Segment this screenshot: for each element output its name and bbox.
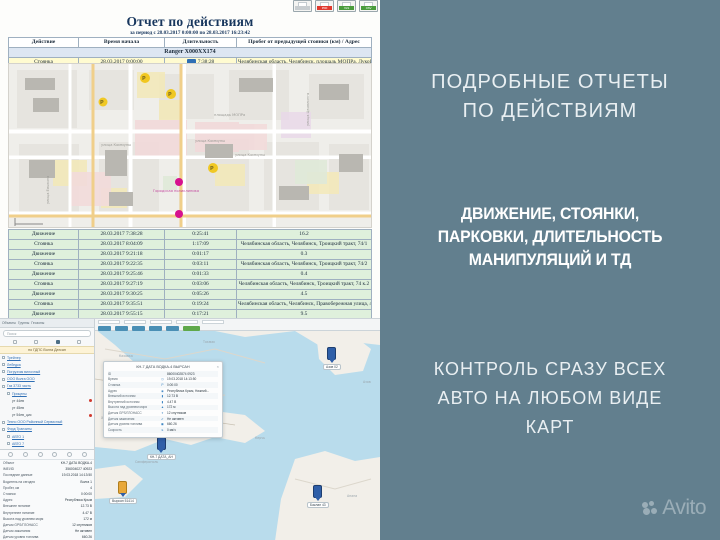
cell-start-time: 28.03.2017 9:35:51 (79, 300, 165, 310)
table-row: Стоянка 28.03.2017 9:27:19 0:03:06 Челяб… (9, 280, 372, 290)
popup-key: Стоянка (108, 383, 158, 387)
property-key: Объект (3, 461, 47, 465)
cell-start-time: 28.03.2017 7:38:28 (79, 230, 165, 240)
popup-key: Адрес (108, 389, 158, 393)
stops-button[interactable] (115, 326, 128, 331)
map-marker[interactable]: Азов 02 (323, 347, 341, 370)
cell-info: Челябинская область, Челябинск, Троицкий… (237, 240, 372, 250)
map-marker[interactable]: Баклан 43 (307, 485, 329, 508)
popup-key: Высота над уровнем моря (108, 405, 158, 409)
list-item-label[interactable]: ут 54ев_цис (12, 413, 32, 417)
promo-panel: ПОДРОБНЫЕ ОТЧЕТЫ ПО ДЕЙСТВИЯМ ДВИЖЕНИЕ, … (380, 0, 720, 540)
cell-action: Стоянка (9, 300, 79, 310)
table-header-row: Действие Время начала Длительность Пробе… (9, 38, 372, 48)
checkbox-icon[interactable] (2, 356, 5, 359)
map-marker-label: Азов 02 (323, 364, 341, 370)
list-item-label[interactable]: Прицепы (12, 392, 27, 396)
svg-text:улица Коммуны: улица Коммуны (195, 139, 225, 143)
chart-icon[interactable] (52, 452, 57, 457)
svg-text:улица Коммуны: улица Коммуны (101, 143, 131, 147)
avito-watermark-text: Avito (662, 496, 706, 520)
svg-text:Керчь: Керчь (255, 436, 265, 440)
pdf-export-icon[interactable]: PDF (315, 0, 334, 12)
cell-info: 0.3 (237, 250, 372, 260)
play-track-button[interactable] (98, 326, 111, 331)
avito-logo-icon (642, 501, 658, 515)
avito-watermark: Avito (642, 496, 706, 520)
list-item-label[interactable]: Трейлер (7, 356, 21, 360)
popup-key: Датчик зажигания (108, 417, 158, 421)
map-toolbar-row-bottom[interactable] (95, 325, 380, 332)
vehicle-pin-icon[interactable] (313, 485, 322, 498)
map-marker[interactable]: КН-7 ДАТА_АН (147, 437, 176, 460)
list-item[interactable]: ут 44ев (0, 397, 94, 404)
list-item-label[interactable]: Газ 3733 часть (7, 384, 31, 388)
popup-value: 4.47 В (167, 400, 218, 404)
tab-geozones[interactable]: Геозоны (31, 321, 44, 325)
tab-groups[interactable]: Группы (18, 321, 29, 325)
pin-icon: ◉ (160, 389, 165, 393)
svg-text:Анапа: Анапа (347, 494, 357, 498)
popup-value: 0 км/ч (167, 428, 218, 432)
checkbox-icon[interactable] (2, 421, 5, 424)
report-period-subtitle: за период с 28.03.2017 0:00:00 по 28.03.… (0, 30, 380, 36)
screenshot-collage: PDF XLS CSV Отчет по действиям за период… (0, 0, 380, 540)
build-report-button[interactable] (183, 326, 200, 331)
popup-value: 19.03.2018 14:13:50 (167, 377, 218, 381)
list-item-label[interactable]: Техно ООО Районный Сервисный (7, 420, 62, 424)
activity-report-panel: PDF XLS CSV Отчет по действиям за период… (0, 0, 380, 318)
checkbox-icon[interactable] (2, 385, 5, 388)
table-row: Движение 28.03.2017 9:21:18 0:01:17 0.3 (9, 250, 372, 260)
svg-text:P: P (100, 100, 104, 106)
property-key: Внешнее питание (3, 504, 47, 508)
list-item[interactable]: Погрузчик вилочный (0, 368, 94, 375)
filter-icon-3[interactable] (56, 340, 60, 344)
popup-row: Датчик зажигания✔Не активен (108, 416, 218, 422)
property-row: Датчик уровня топлива660.26 (0, 534, 95, 540)
svg-text:P: P (210, 166, 214, 172)
popup-value: Не активен (167, 417, 218, 421)
popup-key: ID (108, 372, 158, 376)
popup-key: Датчик GPS/ГЛОНАСС (108, 411, 158, 415)
popup-row: Внешний источник▮12.73 В (108, 393, 218, 399)
cell-action: Стоянка (9, 280, 79, 290)
cell-info: Челябинская область, Челябинск, Правобер… (237, 300, 372, 310)
speed-icon: ➤ (160, 428, 165, 432)
promo-headline-3: КОНТРОЛЬ СРАЗУ ВСЕХ АВТО НА ЛЮБОМ ВИДЕ К… (380, 355, 720, 442)
list-item-label[interactable]: Форд Транзиты (7, 427, 32, 431)
popup-value: 86000402874 0923 (167, 372, 218, 376)
objects-sidebar: Объекты Группы Геозоны Поиск по ГДПС Вол… (0, 319, 95, 540)
map-toolbar[interactable] (95, 319, 380, 331)
cell-action: Движение (9, 230, 79, 240)
report-title: Отчет по действиям (0, 14, 380, 30)
list-item[interactable]: Трейлер (0, 354, 94, 361)
cell-duration: 0:19:24 (165, 300, 237, 310)
column-header-mileage-address: Пробег от предыдущей стоянки (км) / Адре… (237, 38, 372, 48)
satellite-icon: ✦ (160, 411, 165, 415)
cell-duration: 0:01:17 (165, 250, 237, 260)
promo-headline-3-line-1: КОНТРОЛЬ СРАЗУ ВСЕХ (380, 355, 720, 384)
checkbox-icon[interactable] (2, 428, 5, 431)
avito-dot-4 (651, 508, 657, 514)
property-value: 12 спутников (49, 523, 92, 527)
vehicle-info-popup[interactable]: × КН-7 ДАТА ВОДКА-4 ВЫРСАН ID86000402874… (103, 361, 223, 438)
altitude-icon: ▲ (160, 405, 165, 409)
svg-text:P: P (142, 76, 146, 82)
more-icon[interactable] (82, 452, 87, 457)
table-row: Движение 28.03.2017 9:25:46 0:01:33 0.4 (9, 270, 372, 280)
cell-start-time: 28.03.2017 8:04:09 (79, 240, 165, 250)
list-item-label[interactable]: АВТО 1 (12, 435, 24, 439)
checkbox-icon[interactable] (7, 392, 10, 395)
sidebar-filter-icons[interactable] (0, 339, 94, 346)
filter-icon-4[interactable] (77, 340, 81, 344)
promo-headline-3-line-2: АВТО НА ЛЮБОМ ВИДЕ (380, 384, 720, 413)
vehicle-pin-icon[interactable] (327, 347, 336, 360)
events-button[interactable] (149, 326, 162, 331)
cell-start-time: 28.03.2017 9:22:35 (79, 260, 165, 270)
sensors-button[interactable] (166, 326, 179, 331)
promo-headline-3-line-3: КАРТ (380, 413, 720, 442)
promo-headline-1: ПОДРОБНЫЕ ОТЧЕТЫ ПО ДЕЙСТВИЯМ (380, 68, 720, 126)
popup-key: Время (108, 377, 158, 381)
svg-text:Токмак: Токмак (202, 340, 215, 344)
property-value: 12.73 В (49, 504, 92, 508)
filter-icon-2[interactable] (34, 340, 38, 344)
properties-toolbar[interactable] (0, 450, 95, 460)
history-icon[interactable] (23, 452, 28, 457)
cell-action: Движение (9, 290, 79, 300)
table-row: Стоянка 28.03.2017 9:35:51 0:19:24 Челяб… (9, 300, 372, 310)
popup-value: 172 м (167, 405, 218, 409)
popup-row: Адрес◉Республика Крым, Нижний... (108, 388, 218, 394)
cell-action: Движение (9, 310, 79, 319)
checkbox-icon[interactable] (7, 435, 10, 438)
popup-key: Датчик уровня топлива (108, 422, 158, 426)
sidebar-tabs[interactable]: Объекты Группы Геозоны (0, 319, 94, 328)
property-value: 4.47 В (49, 511, 92, 515)
object-properties-panel: ОбъектКН-7 ДАТА ВОДКА-4 IMEI/ID356004027… (0, 449, 95, 540)
promo-headline-1-line-1: ПОДРОБНЫЕ ОТЧЕТЫ (380, 68, 720, 97)
property-key: Внутреннее питание (3, 511, 47, 515)
checkbox-icon[interactable] (2, 370, 5, 373)
report-export-toolbar[interactable]: PDF XLS CSV (293, 0, 378, 13)
property-value: 19.03.2018 14:13:50 (49, 473, 92, 477)
list-item-label[interactable]: АВТО 7 (12, 442, 24, 446)
list-item[interactable]: ут 45ев (0, 404, 94, 411)
parkings-button[interactable] (132, 326, 145, 331)
table-row: Движение 28.03.2017 7:38:28 0:25:41 16.2 (9, 230, 372, 240)
svg-text:улица Коммуны: улица Коммуны (235, 153, 265, 157)
popup-key: Скорость (108, 428, 158, 432)
property-value: Волга 1 (49, 480, 92, 484)
list-item[interactable]: АВТО 1 (0, 433, 94, 440)
property-key: Адрес (3, 498, 47, 502)
property-value: 172 м (49, 517, 92, 521)
list-item-label[interactable]: ут 45ев (12, 406, 24, 410)
xls-export-icon-label: XLS (339, 6, 354, 10)
cell-duration: 0:01:33 (165, 270, 237, 280)
pdf-export-icon-label: PDF (317, 6, 332, 10)
cell-info: Челябинская область, Челябинск, Троицкий… (237, 260, 372, 270)
popup-key: Внешний источник (108, 394, 158, 398)
property-value: 4 (49, 486, 92, 490)
report-icon[interactable] (38, 452, 43, 457)
promo-headline-2-line-3: МАНИПУЛЯЦИЙ И ТД (392, 248, 708, 271)
date-from-field[interactable] (98, 320, 120, 324)
promo-headline-2-line-2: ПАРКОВКИ, ДЛИТЕЛЬНОСТЬ (392, 225, 708, 248)
popup-key: Внутренний источник (108, 400, 158, 404)
property-value: 0:00:00 (49, 492, 92, 496)
map-marker-label: Баклан 43 (307, 502, 329, 508)
property-value: 660.26 (49, 535, 92, 539)
cell-start-time: 28.03.2017 9:25:46 (79, 270, 165, 280)
cell-start-time: 28.03.2017 9:55:15 (79, 310, 165, 319)
popup-value: 12.73 В (167, 394, 218, 398)
property-key: Последние данные (3, 473, 47, 477)
cell-start-time: 28.03.2017 9:21:18 (79, 250, 165, 260)
route-icon[interactable] (67, 452, 72, 457)
popup-value: 0:00:00 (167, 383, 218, 387)
cell-info: Челябинская область, Челябинск, Троицкий… (237, 280, 372, 290)
close-icon[interactable]: × (217, 364, 219, 369)
property-key: Датчик зажигания (3, 529, 47, 533)
table-row: Стоянка 28.03.2017 8:04:09 1:17:09 Челяб… (9, 240, 372, 250)
cell-duration: 1:17:09 (165, 240, 237, 250)
cell-info: 16.2 (237, 230, 372, 240)
list-item-label[interactable]: ут 44ев (12, 399, 24, 403)
svg-text:Каховка: Каховка (119, 354, 133, 358)
cell-duration: 0:17:21 (165, 310, 237, 319)
xls-export-icon[interactable]: XLS (337, 0, 356, 12)
list-item[interactable]: Форд Транзиты (0, 426, 94, 433)
svg-text:улица Цвиллинга: улица Цвиллинга (306, 93, 310, 126)
svg-text:улица Елькина: улица Елькина (46, 176, 50, 204)
cell-duration: 0:25:41 (165, 230, 237, 240)
table-row: Стоянка 28.03.2017 9:22:35 0:03:11 Челяб… (9, 260, 372, 270)
tree-group-header[interactable]: по ГДПС Волга Датсан (0, 346, 94, 354)
checkbox-icon[interactable] (2, 378, 5, 381)
date-to-field[interactable] (176, 320, 198, 324)
svg-text:P: P (168, 92, 172, 98)
checkbox-icon[interactable] (7, 442, 10, 445)
vehicle-name: Ranger X000XX174 (9, 48, 372, 58)
filter-icon-1[interactable] (13, 340, 17, 344)
map-marker[interactable]: Вырсан 51414 (109, 481, 137, 504)
list-item[interactable]: ут 54ев_цис (0, 412, 94, 419)
property-key: Водитель на сегодня (3, 480, 47, 484)
popup-row: Высота над уровнем моря▲172 м (108, 405, 218, 411)
list-item-label[interactable]: Погрузчик вилочный (7, 370, 40, 374)
property-key: IMEI/ID (3, 467, 47, 471)
parking-icon: P (160, 383, 165, 387)
property-value: Не активен (49, 529, 92, 533)
avito-dot-3 (643, 508, 650, 515)
svg-text:площадь МОПРа: площадь МОПРа (214, 113, 245, 117)
cell-duration: 0:03:11 (165, 260, 237, 270)
edit-icon[interactable] (8, 452, 13, 457)
battery-icon: ▮ (160, 394, 165, 398)
popup-row: СтоянкаP0:00:00 (108, 382, 218, 388)
popup-value: 12 спутников (167, 411, 218, 415)
property-key: Высота над уровнем моря (3, 517, 47, 521)
cell-info: 9.5 (237, 310, 372, 319)
column-header-action: Действие (9, 38, 79, 48)
list-item-label[interactable]: ООО Волга ООО (7, 377, 35, 381)
csv-export-icon[interactable]: CSV (359, 0, 378, 12)
property-key: Датчик GPS/ГЛОНАСС (3, 523, 47, 527)
status-dot-icon (89, 399, 92, 402)
promo-headline-2: ДВИЖЕНИЕ, СТОЯНКИ, ПАРКОВКИ, ДЛИТЕЛЬНОСТ… (392, 202, 708, 271)
vehicle-pin-icon[interactable] (157, 437, 166, 450)
screenshot-root: PDF XLS CSV Отчет по действиям за период… (0, 0, 720, 540)
property-value: 356004027 40923 (49, 467, 92, 471)
property-key: Датчик уровня топлива (3, 535, 47, 539)
column-header-duration: Длительность (165, 38, 237, 48)
cell-start-time: 28.03.2017 9:30:25 (79, 290, 165, 300)
property-key: Пробег, км (3, 486, 47, 490)
table-row: Движение 28.03.2017 9:30:25 0:05:26 4.5 (9, 290, 372, 300)
property-value: КН-7 ДАТА ВОДКА-4 (49, 461, 92, 465)
interval-field[interactable] (150, 320, 172, 324)
promo-headline-1-line-2: ПО ДЕЙСТВИЯМ (380, 97, 720, 126)
popup-row: Внутренний источник▮4.47 В (108, 399, 218, 405)
column-header-start-time: Время начала (79, 38, 165, 48)
cell-start-time: 28.03.2017 9:27:19 (79, 280, 165, 290)
time-from-field[interactable] (124, 320, 146, 324)
vehicle-pin-icon[interactable] (118, 481, 127, 494)
cell-action: Стоянка (9, 260, 79, 270)
report-city-map[interactable]: PPPP площадь МОПРа улица Коммуны улица К… (8, 63, 372, 228)
clock-icon: ◷ (160, 377, 165, 381)
popup-value: Республика Крым, Нижний... (167, 389, 218, 393)
print-icon[interactable] (293, 0, 312, 12)
svg-text:Симферополь: Симферополь (135, 460, 158, 464)
svg-text:Азов: Азов (363, 380, 371, 384)
status-dot-icon (89, 414, 92, 417)
list-item[interactable]: ООО Волга ООО (0, 376, 94, 383)
table-row: Движение 28.03.2017 9:55:15 0:17:21 9.5 (9, 310, 372, 319)
tracking-application-window: Объекты Группы Геозоны Поиск по ГДПС Вол… (0, 318, 380, 540)
csv-export-icon-label: CSV (361, 6, 376, 10)
battery-icon: ▮ (160, 400, 165, 404)
list-item[interactable]: АВТО 7 (0, 440, 94, 447)
property-value: Республика Крым (49, 498, 92, 502)
property-key: Стоянки (3, 492, 47, 496)
popup-row: Время◷19.03.2018 14:13:50 (108, 377, 218, 383)
list-item[interactable]: Лебедка (0, 361, 94, 368)
cell-info: 0.4 (237, 270, 372, 280)
fuel-icon: ◼ (160, 422, 165, 426)
cell-info: 4.5 (237, 290, 372, 300)
map-marker-label: Вырсан 51414 (109, 498, 137, 504)
list-item-label[interactable]: Лебедка (7, 363, 21, 367)
promo-headline-2-line-1: ДВИЖЕНИЕ, СТОЯНКИ, (392, 202, 708, 225)
popup-row: Датчик GPS/ГЛОНАСС✦12 спутников (108, 410, 218, 416)
cell-action: Движение (9, 250, 79, 260)
search-input[interactable]: Поиск (3, 330, 91, 337)
print-icon-label (295, 6, 310, 10)
map-pane[interactable]: ТокмакКаховка КерчьСимферополь АнапаАзов… (95, 319, 380, 540)
ignition-icon: ✔ (160, 417, 165, 421)
cell-duration: 0:05:26 (165, 290, 237, 300)
cell-duration: 0:03:06 (165, 280, 237, 290)
tab-objects[interactable]: Объекты (2, 321, 16, 325)
list-item[interactable]: Газ 3733 часть (0, 383, 94, 390)
map-marker-label: КН-7 ДАТА_АН (147, 454, 176, 460)
city-map-graphic: PPPP площадь МОПРа улица Коммуны улица К… (9, 64, 372, 228)
list-item[interactable]: Техно ООО Районный Сервисный (0, 419, 94, 426)
checkbox-icon[interactable] (2, 363, 5, 366)
report-rows-table: Движение 28.03.2017 7:38:28 0:25:41 16.2… (8, 229, 372, 318)
cell-action: Движение (9, 270, 79, 280)
svg-text:Городская поликлиника: Городская поликлиника (153, 189, 199, 193)
list-item[interactable]: Прицепы (0, 390, 94, 397)
popup-row: Датчик уровня топлива◼660.26 (108, 421, 218, 427)
avito-dot-2 (649, 501, 654, 506)
cell-action: Стоянка (9, 240, 79, 250)
popup-value: 660.26 (167, 422, 218, 426)
popup-row: Скорость➤0 км/ч (108, 427, 218, 433)
vehicle-group-row: Ranger X000XX174 (9, 48, 372, 58)
time-to-field[interactable] (202, 320, 224, 324)
